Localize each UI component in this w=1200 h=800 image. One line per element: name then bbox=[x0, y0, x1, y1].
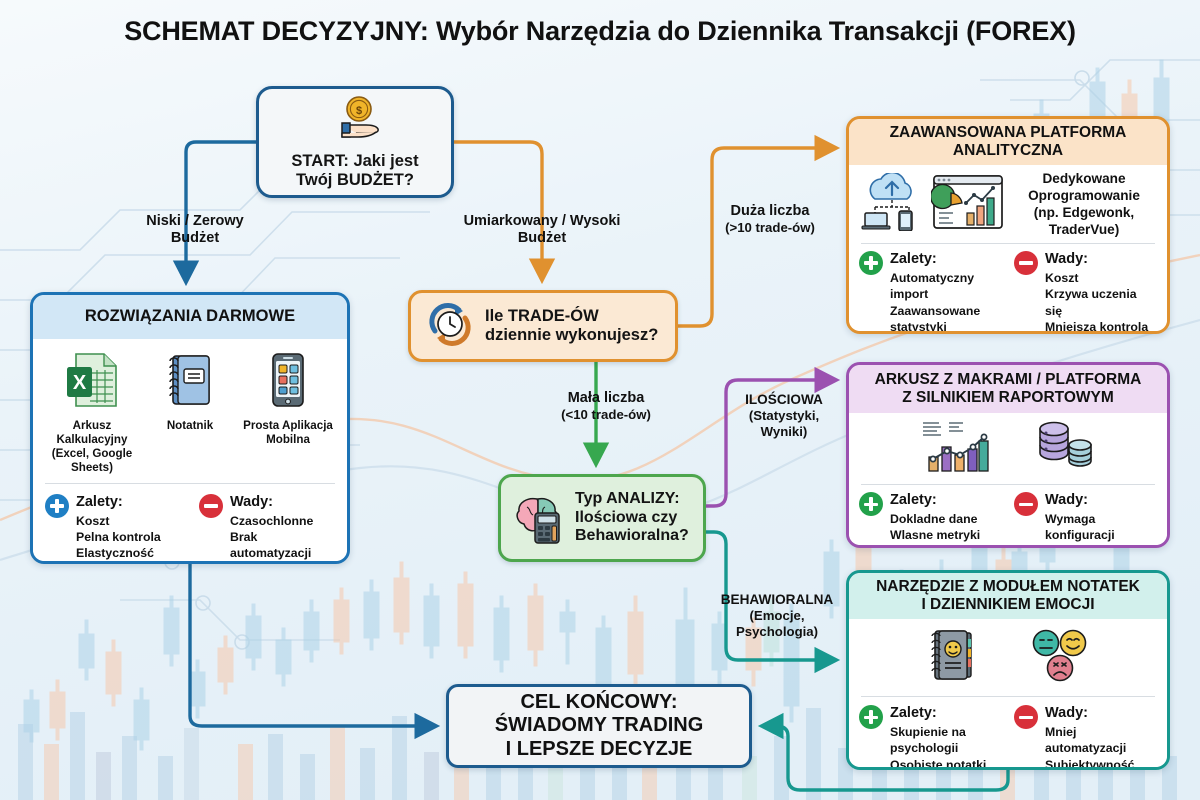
cons-title: Wady: bbox=[1045, 250, 1157, 269]
pros-item: Skupienie na psychologii bbox=[890, 724, 1002, 756]
cloud-upload-devices-icon bbox=[859, 173, 925, 236]
advanced-pros: Zalety: Automatyczny import Zaawansowane… bbox=[859, 250, 1002, 334]
free-solutions-card[interactable]: ROZWIĄZANIA DARMOWE bbox=[30, 292, 350, 564]
edge-label-quantitative: ILOŚCIOWA (Statystyki, Wyniki) bbox=[722, 392, 846, 440]
macro-header-line1: ARKUSZ Z MAKRAMI / PLATFORMA bbox=[875, 371, 1142, 389]
analysis-label-line3: Behawioralna? bbox=[575, 527, 689, 546]
cons-item: Koszt bbox=[1045, 270, 1157, 286]
edge-many-trades-line1: Duża liczba bbox=[700, 203, 840, 220]
goal-label-line1: CEL KOŃCOWY: bbox=[495, 691, 704, 714]
journal-smiley-icon bbox=[925, 627, 977, 690]
pros-title: Zalety: bbox=[76, 493, 161, 512]
clock-refresh-icon bbox=[423, 297, 477, 356]
trades-per-day-decision-node[interactable]: Ile TRADE-ÓW dziennie wykonujesz? bbox=[408, 290, 678, 362]
edge-label-high-budget: Umiarkowany / Wysoki Budżet bbox=[430, 213, 654, 248]
advanced-cons: Wady: Koszt Krzywa uczenia się Mniejsza … bbox=[1014, 250, 1157, 334]
cons-item: Brak automatyzacji bbox=[230, 529, 335, 561]
cons-item: Subiektywność bbox=[1045, 757, 1157, 770]
minus-icon bbox=[1014, 705, 1038, 729]
goal-label-line2: ŚWIADOMY TRADING bbox=[495, 714, 704, 737]
pros-item: Automatyczny import bbox=[890, 270, 1002, 302]
behavioral-header-line1: NARZĘDZIE Z MODUŁEM NOTATEK bbox=[876, 578, 1140, 596]
svg-text:X: X bbox=[73, 372, 87, 394]
trades-label-line2: dziennie wykonujesz? bbox=[485, 326, 658, 345]
hand-holding-coin-icon: $ bbox=[318, 95, 392, 150]
edge-low-budget-line1: Niski / Zerowy bbox=[120, 213, 270, 230]
cons-item: Ryzyko błędów bbox=[230, 561, 335, 564]
advanced-header-line2: ANALITYCZNA bbox=[890, 142, 1127, 160]
pros-item: Pelna kontrola bbox=[76, 529, 161, 545]
free-item-mobile-app: Prosta Aplikacja Mobilna bbox=[242, 351, 334, 475]
cons-item: Mniejsza kontrola bbox=[1045, 319, 1157, 334]
free-solutions-header: ROZWIĄZANIA DARMOWE bbox=[33, 295, 347, 339]
cons-title: Wady: bbox=[230, 493, 335, 512]
cons-item: Krzywa uczenia się bbox=[1045, 286, 1157, 318]
edge-high-budget-line2: Budżet bbox=[430, 230, 654, 247]
macro-pros: Zalety: Dokladne dane Wlasne metryki Per… bbox=[859, 491, 1002, 548]
edge-label-behavioral: BEHAWIORALNA (Emocje, Psychologia) bbox=[704, 592, 850, 640]
free-item-label: Arkusz Kalkulacyjny bbox=[46, 419, 138, 447]
edge-behavioral-line2: (Emocje, bbox=[704, 608, 850, 624]
advanced-header-line1: ZAAWANSOWANA PLATFORMA bbox=[890, 124, 1127, 142]
pros-title: Zalety: bbox=[890, 491, 980, 510]
pros-item: Personalizacja bbox=[890, 544, 980, 548]
svg-text:$: $ bbox=[356, 105, 362, 117]
start-label-line1: START: Jaki jest bbox=[291, 152, 418, 171]
behavioral-header-line2: I DZIENNIKIEM EMOCJI bbox=[876, 596, 1140, 614]
advanced-desc-line: (np. Edgewonk, bbox=[1011, 205, 1157, 222]
free-pros: Zalety: Koszt Pelna kontrola Elastycznoś… bbox=[45, 493, 181, 564]
analysis-type-decision-node[interactable]: Typ ANALIZY: Ilościowa czy Behawioralna? bbox=[498, 474, 706, 562]
advanced-platform-card[interactable]: ZAAWANSOWANA PLATFORMA ANALITYCZNA bbox=[846, 116, 1170, 334]
edge-quantitative-line2: (Statystyki, bbox=[722, 408, 846, 424]
plus-icon bbox=[859, 705, 883, 729]
start-label-line2: Twój BUDŻET? bbox=[291, 171, 418, 190]
cons-title: Wady: bbox=[1045, 704, 1157, 723]
plus-icon bbox=[859, 251, 883, 275]
free-item-spreadsheet: X Arkusz Kalkulacyjny (Excel, Google She… bbox=[46, 351, 138, 475]
pros-title: Zalety: bbox=[890, 250, 1002, 269]
edge-quantitative-line1: ILOŚCIOWA bbox=[722, 392, 846, 408]
spreadsheet-excel-icon: X bbox=[64, 396, 120, 413]
minus-icon bbox=[199, 494, 223, 518]
cons-item: Wymaga konfiguracji bbox=[1045, 511, 1157, 543]
macro-spreadsheet-card[interactable]: ARKUSZ Z MAKRAMI / PLATFORMA Z SILNIKIEM… bbox=[846, 362, 1170, 548]
edge-few-trades-line2: (<10 trade-ów) bbox=[532, 407, 680, 423]
advanced-desc-line: Dedykowane bbox=[1011, 171, 1157, 188]
behavioral-header: NARZĘDZIE Z MODUŁEM NOTATEK I DZIENNIKIE… bbox=[849, 573, 1167, 619]
page-title: SCHEMAT DECYZYJNY: Wybór Narzędzia do Dz… bbox=[0, 16, 1200, 47]
plus-icon bbox=[45, 494, 69, 518]
infographic-canvas: SCHEMAT DECYZYJNY: Wybór Narzędzia do Dz… bbox=[0, 0, 1200, 800]
macro-header-line2: Z SILNIKIEM RAPORTOWYM bbox=[875, 389, 1142, 407]
final-goal-node[interactable]: CEL KOŃCOWY: ŚWIADOMY TRADING I LEPSZE D… bbox=[446, 684, 752, 768]
plus-icon bbox=[859, 492, 883, 516]
advanced-desc-line: Oprogramowanie bbox=[1011, 188, 1157, 205]
cons-item: Czasochlonne bbox=[230, 513, 335, 529]
advanced-desc-line: TraderVue) bbox=[1011, 222, 1157, 239]
free-item-notebook: Notatnik bbox=[144, 351, 236, 475]
edge-label-many-trades: Duża liczba (>10 trade-ów) bbox=[700, 203, 840, 236]
analysis-label-line1: Typ ANALIZY: bbox=[575, 490, 689, 509]
goal-label-line3: I LEPSZE DECYZJE bbox=[495, 738, 704, 761]
edge-few-trades-line1: Mała liczba bbox=[532, 390, 680, 407]
macro-header: ARKUSZ Z MAKRAMI / PLATFORMA Z SILNIKIEM… bbox=[849, 365, 1167, 413]
cons-item: Czas na analizę bbox=[1045, 544, 1157, 548]
emotion-faces-icon bbox=[1029, 627, 1091, 690]
trades-label-line1: Ile TRADE-ÓW bbox=[485, 307, 658, 326]
free-item-label: Prosta Aplikacja bbox=[242, 419, 334, 433]
edge-low-budget-line2: Budżet bbox=[120, 230, 270, 247]
free-item-label: Notatnik bbox=[144, 419, 236, 433]
free-item-label: Sheets) bbox=[46, 461, 138, 475]
pros-title: Zalety: bbox=[890, 704, 1002, 723]
pros-item: Zaawansowane statystyki bbox=[890, 303, 1002, 335]
macro-cons: Wady: Wymaga konfiguracji Czas na analiz… bbox=[1014, 491, 1157, 548]
pros-item: Dokladne dane bbox=[890, 511, 980, 527]
edge-high-budget-line1: Umiarkowany / Wysoki bbox=[430, 213, 654, 230]
bar-line-chart-icon bbox=[919, 419, 991, 480]
minus-icon bbox=[1014, 492, 1038, 516]
minus-icon bbox=[1014, 251, 1038, 275]
behavioral-pros: Zalety: Skupienie na psychologii Osobist… bbox=[859, 704, 1002, 770]
start-decision-node[interactable]: $ START: Jaki jest Twój BUDŻET? bbox=[256, 86, 454, 198]
edge-behavioral-line1: BEHAWIORALNA bbox=[704, 592, 850, 608]
edge-many-trades-line2: (>10 trade-ów) bbox=[700, 220, 840, 236]
pros-item: Wlasne metryki bbox=[890, 527, 980, 543]
cons-title: Wady: bbox=[1045, 491, 1157, 510]
pros-item: Osobiste notatki bbox=[890, 757, 1002, 770]
mobile-app-icon bbox=[267, 396, 309, 413]
cons-item: Mniej automatyzacji bbox=[1045, 724, 1157, 756]
advanced-description: Dedykowane Oprogramowanie (np. Edgewonk,… bbox=[1011, 171, 1157, 239]
notebook-icon bbox=[164, 396, 216, 413]
free-cons: Wady: Czasochlonne Brak automatyzacji Ry… bbox=[199, 493, 335, 564]
database-stack-icon bbox=[1035, 419, 1097, 480]
edge-behavioral-line3: Psychologia) bbox=[704, 624, 850, 640]
brain-calculator-icon bbox=[511, 487, 569, 550]
analysis-label-line2: Ilościowa czy bbox=[575, 509, 689, 528]
edge-label-few-trades: Mała liczba (<10 trade-ów) bbox=[532, 390, 680, 423]
free-item-label: Mobilna bbox=[242, 433, 334, 447]
analytics-dashboard-icon bbox=[931, 173, 1005, 236]
pros-item: Koszt bbox=[76, 513, 161, 529]
advanced-platform-header: ZAAWANSOWANA PLATFORMA ANALITYCZNA bbox=[849, 119, 1167, 165]
free-item-label: (Excel, Google bbox=[46, 447, 138, 461]
edge-label-low-budget: Niski / Zerowy Budżet bbox=[120, 213, 270, 248]
pros-item: Elastyczność bbox=[76, 545, 161, 561]
edge-quantitative-line3: Wyniki) bbox=[722, 424, 846, 440]
behavioral-cons: Wady: Mniej automatyzacji Subiektywność bbox=[1014, 704, 1157, 770]
behavioral-journal-card[interactable]: NARZĘDZIE Z MODUŁEM NOTATEK I DZIENNIKIE… bbox=[846, 570, 1170, 770]
